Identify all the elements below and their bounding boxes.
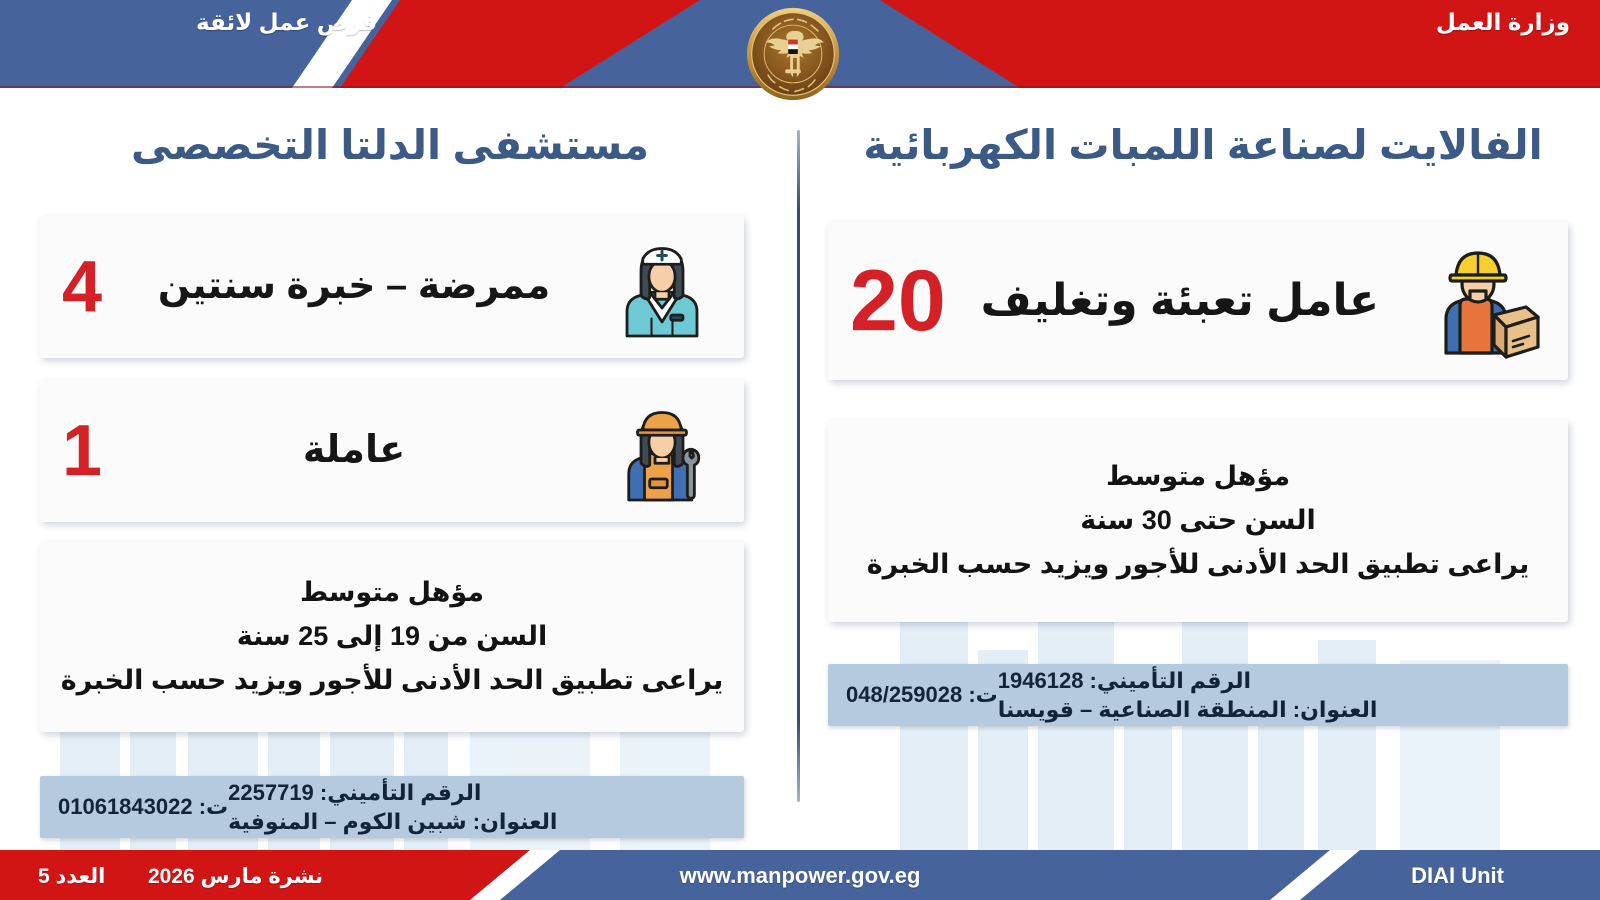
address: العنوان: شبين الكوم – المنوفية (228, 807, 557, 836)
company-title-right: الفالايت لصناعة اللمبات الكهربائية (818, 122, 1578, 169)
male-packing-worker-icon (1414, 237, 1542, 365)
page-footer: العدد 5 نشرة مارس 2026 www.manpower.gov.… (0, 850, 1600, 900)
job-count: 20 (850, 258, 946, 344)
contact-details: الرقم التأميني: 2257719 العنوان: شبين ال… (228, 778, 726, 836)
header-right-label: وزارة العمل (1436, 9, 1570, 36)
address: العنوان: المنطقة الصناعية – قويسنا (998, 695, 1378, 724)
job-count: 4 (62, 251, 102, 323)
footer-issue-number: العدد 5 (38, 864, 105, 889)
header-left-label: فرص عمل لائقة (196, 9, 377, 36)
contact-details: الرقم التأميني: 1946128 العنوان: المنطقة… (998, 666, 1550, 724)
company-column-right: الفالايت لصناعة اللمبات الكهربائية 20 عا… (818, 108, 1578, 850)
requirement-line: مؤهل متوسط (1106, 455, 1290, 499)
job-card: 20 عامل تعبئة وتغليف (828, 222, 1568, 380)
footer-bulletin-date: نشرة مارس 2026 (148, 864, 323, 889)
job-title: عاملة (102, 429, 606, 473)
contact-bar: الرقم التأميني: 2257719 العنوان: شبين ال… (40, 776, 744, 838)
job-card: 4 ممرضة – خبرة سنتين (40, 216, 744, 358)
company-column-left: مستشفى الدلتا التخصصى 4 ممرضة – خبرة سنت… (22, 108, 782, 850)
footer-website-link[interactable]: www.manpower.gov.eg (680, 863, 921, 889)
insurance-number: الرقم التأميني: 1946128 (998, 666, 1251, 695)
requirement-line: السن من 19 إلى 25 سنة (237, 615, 547, 659)
requirements-card: مؤهل متوسط السن من 19 إلى 25 سنة يراعى ت… (40, 542, 744, 732)
contact-bar: الرقم التأميني: 1946128 العنوان: المنطقة… (828, 664, 1568, 726)
column-divider (797, 130, 800, 802)
requirement-line: يراعى تطبيق الحد الأدنى للأجور ويزيد حسب… (61, 659, 724, 703)
phone-number[interactable]: ت: 01061843022 (58, 794, 228, 820)
insurance-number: الرقم التأميني: 2257719 (228, 778, 481, 807)
job-title: عامل تعبئة وتغليف (946, 276, 1414, 327)
main-content: الفالايت لصناعة اللمبات الكهربائية 20 عا… (0, 108, 1600, 850)
footer-unit-label: DIAI Unit (1411, 863, 1504, 889)
requirement-line: مؤهل متوسط (300, 571, 484, 615)
job-title: ممرضة – خبرة سنتين (102, 265, 606, 309)
phone-number[interactable]: ت: 048/259028 (846, 682, 998, 708)
page-header: فرص عمل لائقة وزارة العمل (0, 0, 1600, 108)
female-worker-icon (606, 395, 718, 507)
job-count: 1 (62, 415, 102, 487)
company-title-left: مستشفى الدلتا التخصصى (22, 122, 782, 169)
requirement-line: يراعى تطبيق الحد الأدنى للأجور ويزيد حسب… (867, 543, 1530, 587)
ministry-of-labour-seal-icon (745, 6, 841, 102)
nurse-icon (606, 231, 718, 343)
requirement-line: السن حتى 30 سنة (1080, 499, 1315, 543)
job-card: 1 عاملة (40, 380, 744, 522)
requirements-card: مؤهل متوسط السن حتى 30 سنة يراعى تطبيق ا… (828, 420, 1568, 622)
